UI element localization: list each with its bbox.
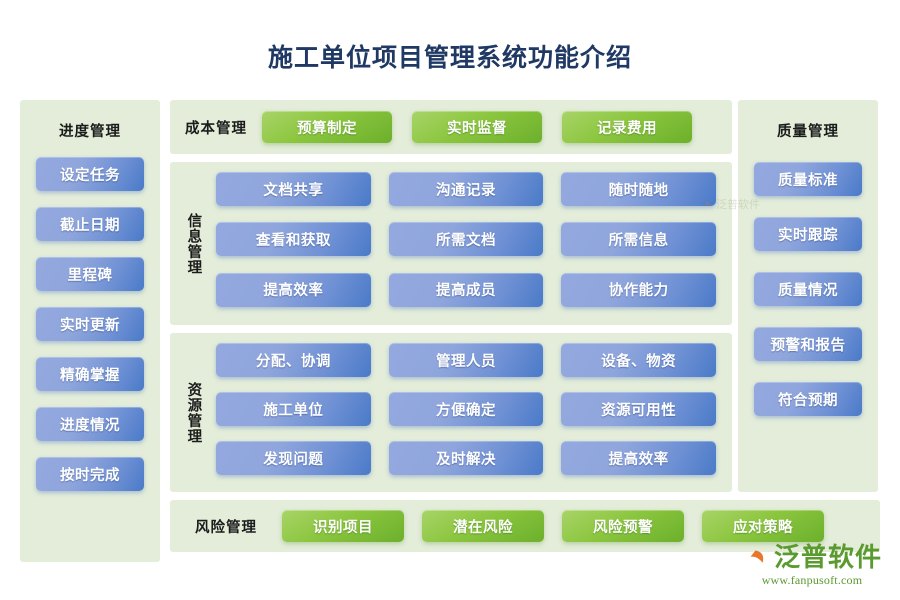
fanpu-logo-icon: [742, 542, 770, 570]
schedule-item-6[interactable]: 按时完成: [36, 457, 144, 491]
page-title: 施工单位项目管理系统功能介绍: [0, 38, 900, 74]
resource-management-label: 资源管理: [170, 333, 216, 492]
watermark: 泛普软件: [700, 196, 760, 212]
watermark-logo-icon: [700, 197, 714, 211]
information-item-3[interactable]: 查看和获取: [216, 222, 371, 256]
panel-quality-management: 质量管理 质量标准 实时跟踪 质量情况 预警和报告 符合预期: [738, 100, 878, 492]
resource-item-6[interactable]: 发现问题: [216, 441, 371, 475]
quality-item-4[interactable]: 符合预期: [754, 382, 862, 416]
brand-logo: 泛普软件 www.fanpusoft.com: [742, 537, 882, 588]
resource-item-2[interactable]: 设备、物资: [561, 343, 716, 377]
schedule-item-2[interactable]: 里程碑: [36, 257, 144, 291]
schedule-item-3[interactable]: 实时更新: [36, 307, 144, 341]
quality-item-3[interactable]: 预警和报告: [754, 327, 862, 361]
quality-item-2[interactable]: 质量情况: [754, 272, 862, 306]
resource-item-5[interactable]: 资源可用性: [561, 392, 716, 426]
information-item-5[interactable]: 所需信息: [561, 222, 716, 256]
resource-management-label-text: 资源管理: [186, 382, 201, 444]
quality-item-0[interactable]: 质量标准: [754, 162, 862, 196]
resource-item-8[interactable]: 提高效率: [561, 441, 716, 475]
schedule-item-5[interactable]: 进度情况: [36, 407, 144, 441]
resource-item-0[interactable]: 分配、协调: [216, 343, 371, 377]
quality-item-1[interactable]: 实时跟踪: [754, 217, 862, 251]
schedule-management-header: 进度管理: [20, 120, 160, 141]
cost-item-2[interactable]: 记录费用: [562, 111, 692, 143]
cost-management-label: 成本管理: [170, 117, 262, 138]
resource-item-1[interactable]: 管理人员: [389, 343, 544, 377]
information-management-label-text: 信息管理: [186, 213, 201, 275]
panel-schedule-management: 进度管理 设定任务 截止日期 里程碑 实时更新 精确掌握 进度情况 按时完成: [20, 100, 160, 562]
watermark-text: 泛普软件: [716, 196, 760, 212]
quality-management-header: 质量管理: [738, 120, 878, 141]
information-item-7[interactable]: 提高成员: [389, 273, 544, 307]
panel-cost-management: 成本管理 预算制定 实时监督 记录费用: [170, 100, 732, 154]
risk-item-1[interactable]: 潜在风险: [422, 510, 544, 542]
schedule-item-0[interactable]: 设定任务: [36, 157, 144, 191]
schedule-item-1[interactable]: 截止日期: [36, 207, 144, 241]
brand-logo-row: 泛普软件: [742, 537, 882, 574]
resource-item-4[interactable]: 方便确定: [389, 392, 544, 426]
resource-item-3[interactable]: 施工单位: [216, 392, 371, 426]
information-item-0[interactable]: 文档共享: [216, 172, 371, 206]
resource-item-7[interactable]: 及时解决: [389, 441, 544, 475]
information-management-label: 信息管理: [170, 162, 216, 325]
cost-item-0[interactable]: 预算制定: [262, 111, 392, 143]
panel-information-management: 信息管理 文档共享 沟通记录 随时随地 查看和获取 所需文档 所需信息 提高效率…: [170, 162, 732, 325]
resource-item-grid: 分配、协调 管理人员 设备、物资 施工单位 方便确定 资源可用性 发现问题 及时…: [216, 333, 732, 492]
brand-name: 泛普软件: [774, 537, 882, 574]
information-item-8[interactable]: 协作能力: [561, 273, 716, 307]
information-item-grid: 文档共享 沟通记录 随时随地 查看和获取 所需文档 所需信息 提高效率 提高成员…: [216, 162, 732, 325]
infographic-canvas: 施工单位项目管理系统功能介绍 进度管理 设定任务 截止日期 里程碑 实时更新 精…: [0, 0, 900, 600]
schedule-item-4[interactable]: 精确掌握: [36, 357, 144, 391]
cost-item-1[interactable]: 实时监督: [412, 111, 542, 143]
information-item-4[interactable]: 所需文档: [389, 222, 544, 256]
information-item-6[interactable]: 提高效率: [216, 273, 371, 307]
risk-management-label: 风险管理: [170, 516, 282, 537]
risk-item-2[interactable]: 风险预警: [562, 510, 684, 542]
brand-url: www.fanpusoft.com: [762, 573, 863, 588]
panel-resource-management: 资源管理 分配、协调 管理人员 设备、物资 施工单位 方便确定 资源可用性 发现…: [170, 333, 732, 492]
information-item-2[interactable]: 随时随地: [561, 172, 716, 206]
risk-item-0[interactable]: 识别项目: [282, 510, 404, 542]
information-item-1[interactable]: 沟通记录: [389, 172, 544, 206]
